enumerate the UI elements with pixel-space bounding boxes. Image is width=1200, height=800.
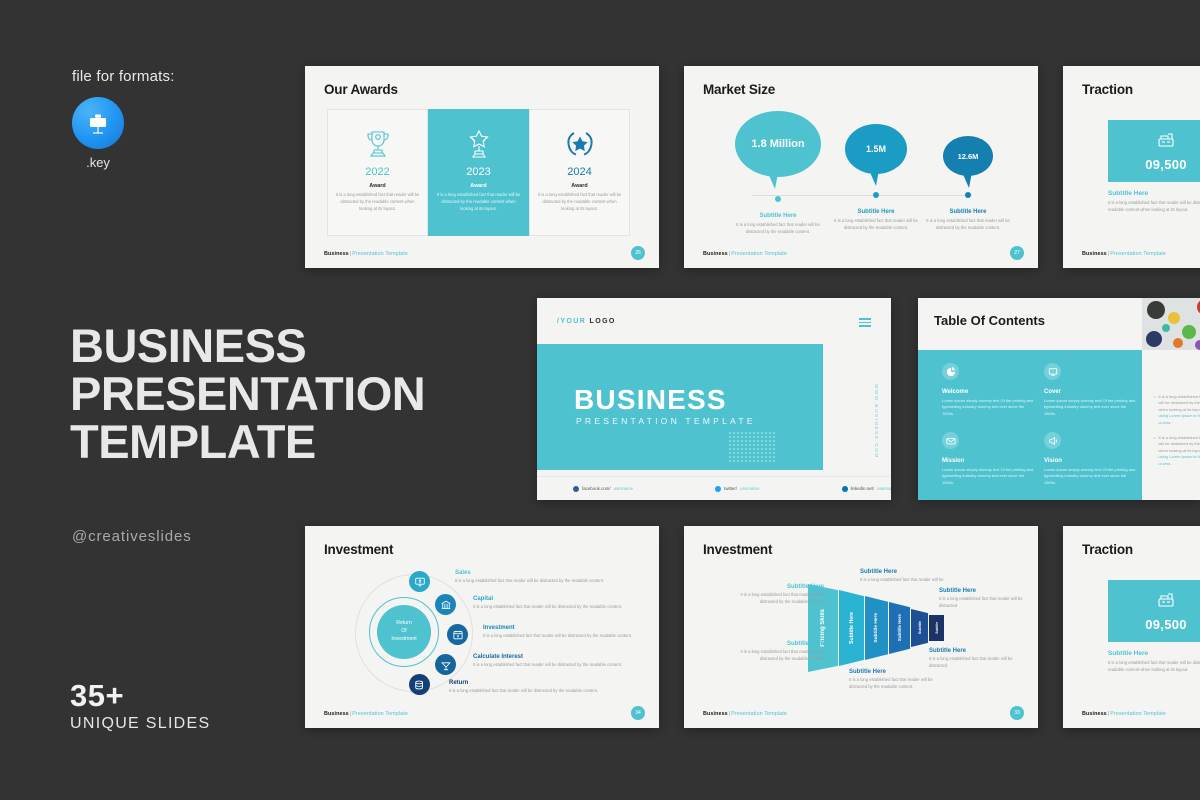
note-title: Subtitle Here — [939, 588, 1031, 594]
toc-item-description: Lorem ipsum simply dummy text Of the pri… — [942, 467, 1034, 486]
market-item-1[interactable]: 1.8 Million Subtitle Here It is a long e… — [732, 111, 824, 236]
cash-register-icon — [1156, 591, 1176, 614]
investment-step-calculate: Calculate Interest It is a long establis… — [473, 654, 628, 669]
poster-canvas: file for formats: .key BUSINESS PRESENTA… — [0, 0, 1200, 800]
market-subtitle: Subtitle Here — [732, 213, 824, 219]
footer-brand: Business — [1082, 711, 1107, 717]
keynote-icon-wrap: .key — [72, 97, 124, 170]
market-bubble: 1.5M — [845, 124, 907, 174]
core-line-2: Of — [391, 628, 416, 636]
note-text: It is a long established fact that reade… — [732, 592, 824, 606]
slide-traction-top[interactable]: Traction 09,500 Subtitle Here It is a lo… — [1063, 66, 1200, 268]
step-label: Calculate Interest — [473, 654, 628, 660]
calendar-money-icon[interactable] — [447, 624, 468, 645]
poster-title: BUSINESS PRESENTATION TEMPLATE — [70, 322, 425, 466]
list-item: • It is a long established fact that rea… — [1154, 435, 1200, 467]
market-description: It is a long established fact that reade… — [734, 222, 822, 236]
slide-market-size[interactable]: Market Size 1.8 Million Subtitle Here It… — [684, 66, 1038, 268]
market-item-2[interactable]: 1.5M Subtitle Here It is a long establis… — [830, 124, 922, 232]
social-prefix: twitter/ — [724, 486, 737, 491]
slide-footer: Business|Presentation Template — [324, 251, 408, 257]
market-value: 1.5M — [866, 144, 886, 154]
social-handle: username — [614, 486, 634, 491]
step-description: It is a long established fact that reade… — [483, 633, 638, 640]
social-handle: username — [740, 486, 760, 491]
traction-subtitle: Subtitle Here — [1108, 650, 1148, 657]
award-year: 2023 — [466, 166, 490, 178]
slide-investment-funnel[interactable]: Investment Pricing Skills Subtitle Here … — [684, 526, 1038, 728]
toc-item-label: Vision — [1044, 458, 1136, 464]
toc-item-vision[interactable]: Vision Lorem ipsum simply dummy text Of … — [1044, 432, 1136, 486]
footer-subtitle: Presentation Template — [731, 711, 787, 717]
market-item-3[interactable]: 12.6M Subtitle Here It is a long establi… — [922, 136, 1014, 232]
note-title: Subtitle Here — [732, 584, 824, 590]
note-text: It is a long established fact that reade… — [939, 596, 1031, 610]
investment-step-investment: Investment It is a long established fact… — [483, 625, 638, 640]
step-description: It is a long established fact that reade… — [449, 688, 604, 695]
slide-investment-circle[interactable]: Investment Return Of Investment Sales — [305, 526, 659, 728]
market-bubble: 12.6M — [943, 136, 993, 176]
award-card-2024[interactable]: 2024 Award It is a long established fact… — [529, 109, 630, 236]
traction-metric-card: 09,500 — [1108, 120, 1200, 182]
award-label: Award — [470, 183, 486, 189]
bullet-marker: • — [1154, 394, 1155, 426]
note-title: Subtitle Here — [860, 569, 952, 575]
page-number-badge: 33 — [1010, 706, 1024, 720]
bullet-text: It is a long established fact that reade… — [1158, 435, 1200, 453]
funnel-segment-label: Subtitle Here — [897, 614, 902, 641]
poster-title-line-1: BUSINESS — [70, 322, 425, 370]
footer-subtitle: Presentation Template — [352, 251, 408, 257]
social-link-twitter[interactable]: twitter/username — [715, 486, 759, 492]
funnel-segment-label: Subtitle — [935, 622, 939, 634]
slide-count-block: 35+ UNIQUE SLIDES — [70, 678, 211, 733]
step-label: Return — [449, 680, 604, 686]
funnel-note-left-bottom: Subtitle Here It is a long established f… — [732, 641, 824, 663]
award-label: Award — [571, 183, 587, 189]
market-value: 12.6M — [958, 152, 979, 161]
footer-subtitle: Presentation Template — [352, 711, 408, 717]
page-title: Table Of Contents — [934, 313, 1045, 328]
envelope-icon — [942, 432, 959, 449]
bank-icon[interactable] — [435, 594, 456, 615]
traction-number: 09,500 — [1145, 157, 1187, 172]
market-description: It is a long established fact that reade… — [832, 218, 920, 232]
toc-item-label: Welcome — [942, 389, 1034, 395]
page-title: Investment — [703, 542, 772, 557]
note-text: It is a long established fact that reade… — [860, 577, 952, 584]
note-text: It is a long established fact that reade… — [929, 656, 1021, 670]
page-number-badge: 34 — [631, 706, 645, 720]
step-label: Sales — [455, 570, 610, 576]
footer-brand: Business — [703, 251, 728, 257]
traction-description: It is a long established fact that reade… — [1108, 200, 1200, 214]
slide-footer: Business|Presentation Template — [703, 251, 787, 257]
slide-footer: Business|Presentation Template — [1082, 251, 1166, 257]
social-handle: username — [877, 486, 891, 491]
note-title: Subtitle Here — [732, 641, 824, 647]
toc-item-mission[interactable]: Mission Lorem ipsum simply dummy text Of… — [942, 432, 1034, 486]
market-subtitle: Subtitle Here — [922, 209, 1014, 215]
toc-item-label: Mission — [942, 458, 1034, 464]
cover-subhead: PRESENTATION TEMPLATE — [576, 416, 756, 426]
bullet-text: It is a long established fact that reade… — [1158, 394, 1200, 412]
timeline-dot — [873, 192, 879, 198]
author-handle: @creativeslides — [72, 528, 192, 545]
file-format-label: file for formats: — [72, 68, 175, 85]
footer-brand: Business — [1082, 251, 1107, 257]
facebook-icon — [573, 486, 579, 492]
slide-cover[interactable]: /YOUR LOGO BUSINESS PRESENTATION TEMPLAT… — [537, 298, 891, 500]
linkedin-icon — [842, 486, 848, 492]
market-value: 1.8 Million — [751, 138, 804, 150]
funnel-segment-label: Subtitle Here — [849, 612, 855, 644]
awards-card-row: 2022 Award It is a long established fact… — [327, 109, 630, 236]
funnel-note-bottom: Subtitle Here It is a long established f… — [849, 669, 941, 691]
page-title: Traction — [1082, 542, 1133, 557]
traction-number: 09,500 — [1145, 617, 1187, 632]
social-prefix: facebook.com/ — [582, 486, 611, 491]
slide-our-awards[interactable]: Our Awards 2022 Award It is a long estab… — [305, 66, 659, 268]
laurel-star-icon — [563, 126, 597, 162]
poster-title-line-2: PRESENTATION — [70, 370, 425, 418]
award-year: 2022 — [365, 166, 389, 178]
list-item: • It is a long established fact that rea… — [1154, 394, 1200, 426]
slide-footer: Business|Presentation Template — [703, 711, 787, 717]
footer-brand: Business — [324, 251, 349, 257]
megaphone-icon — [1044, 432, 1061, 449]
note-title: Subtitle Here — [929, 648, 1021, 654]
coins-chart-icon[interactable] — [409, 674, 430, 695]
funnel-segment-label: Subtitle Here — [874, 613, 879, 643]
investment-step-sales: Sales It is a long established fact that… — [455, 570, 610, 585]
footer-brand: Business — [324, 711, 349, 717]
chart-pin-icon[interactable] — [435, 654, 456, 675]
slide-footer: Business|Presentation Template — [1082, 711, 1166, 717]
cover-social-bar: facebook.com/username twitter/username l… — [537, 476, 891, 500]
hamburger-menu-icon[interactable] — [859, 318, 871, 329]
slide-count-label: UNIQUE SLIDES — [70, 715, 211, 733]
toc-item-cover[interactable]: Cover Lorem ipsum simply dummy text Of t… — [1044, 363, 1136, 417]
presentation-icon — [1044, 363, 1061, 380]
poster-title-line-3: TEMPLATE — [70, 418, 425, 466]
market-description: It is a long established fact that reade… — [924, 218, 1012, 232]
footer-brand: Business — [703, 711, 728, 717]
award-description: It is a long established fact that reade… — [336, 192, 420, 212]
logo-word: LOGO — [590, 318, 616, 325]
toc-item-description: Lorem ipsum simply dummy text Of the pri… — [942, 398, 1034, 417]
toc-bullet-list: • It is a long established fact that rea… — [1154, 394, 1200, 476]
traction-description: It is a long established fact that reade… — [1108, 660, 1200, 674]
bullet-marker: • — [1154, 435, 1155, 467]
core-line-1: Return — [391, 620, 416, 628]
center-label: Return Of Investment — [377, 605, 431, 659]
award-description: It is a long established fact that reade… — [437, 192, 521, 212]
footer-subtitle: Presentation Template — [1110, 711, 1166, 717]
header-photo — [1142, 298, 1200, 350]
page-number-badge: 26 — [631, 246, 645, 260]
note-text: It is a long established fact that reade… — [732, 649, 824, 663]
toc-item-description: Lorem ipsum simply dummy text Of the pri… — [1044, 467, 1136, 486]
page-title: Market Size — [703, 82, 775, 97]
slide-traction-bottom[interactable]: Traction 09,500 Subtitle Here It is a lo… — [1063, 526, 1200, 728]
note-title: Subtitle Here — [849, 669, 941, 675]
timeline-dot — [965, 192, 971, 198]
twitter-icon — [715, 486, 721, 492]
footer-subtitle: Presentation Template — [731, 251, 787, 257]
monitor-money-icon[interactable] — [409, 571, 430, 592]
social-prefix: linkedin.net/ — [851, 486, 874, 491]
page-title: Investment — [324, 542, 393, 557]
award-card-2022[interactable]: 2022 Award It is a long established fact… — [327, 109, 428, 236]
funnel-note-right-bottom: Subtitle Here It is a long established f… — [929, 648, 1021, 670]
timeline-dot — [775, 196, 781, 202]
file-format-block: file for formats: .key — [72, 68, 175, 170]
cover-website-url: WWW.BUSINESS.COM — [874, 384, 879, 459]
page-title: Traction — [1082, 82, 1133, 97]
social-link-linkedin[interactable]: linkedin.net/username — [842, 486, 891, 492]
core-line-3: Investment — [391, 636, 416, 644]
award-description: It is a long established fact that reade… — [538, 192, 622, 212]
funnel-segment-label: Subtitle — [918, 621, 922, 634]
funnel-segment-5[interactable]: Subtitle — [911, 609, 928, 647]
investment-step-return: Return It is a long established fact tha… — [449, 680, 604, 695]
footer-subtitle: Presentation Template — [1110, 251, 1166, 257]
market-subtitle: Subtitle Here — [830, 209, 922, 215]
social-link-facebook[interactable]: facebook.com/username — [573, 486, 633, 492]
award-card-2023[interactable]: 2023 Award It is a long established fact… — [428, 109, 529, 236]
page-number-badge: 27 — [1010, 246, 1024, 260]
toc-item-description: Lorem ipsum simply dummy text Of the pri… — [1044, 398, 1136, 417]
decorative-dot-grid — [729, 432, 777, 462]
traction-metric-card: 09,500 — [1108, 580, 1200, 642]
pie-chart-icon — [942, 363, 959, 380]
step-label: Investment — [483, 625, 638, 631]
funnel-segment-4[interactable]: Subtitle Here — [889, 602, 910, 654]
cash-register-icon — [1156, 131, 1176, 154]
award-year: 2024 — [567, 166, 591, 178]
step-description: It is a long established fact that reade… — [473, 662, 628, 669]
toc-item-label: Cover — [1044, 389, 1136, 395]
award-label: Award — [369, 183, 385, 189]
investment-step-capital: Capital It is a long established fact th… — [473, 596, 628, 611]
step-label: Capital — [473, 596, 628, 602]
market-bubble: 1.8 Million — [735, 111, 821, 177]
slide-footer: Business|Presentation Template — [324, 711, 408, 717]
toc-item-welcome[interactable]: Welcome Lorem ipsum simply dummy text Of… — [942, 363, 1034, 417]
star-trophy-icon — [463, 126, 495, 162]
slide-table-of-contents[interactable]: Table Of Contents Welcome Lorem ipsum si… — [918, 298, 1200, 500]
slide-count-number: 35+ — [70, 678, 211, 714]
keynote-icon — [72, 97, 124, 149]
funnel-segment-3[interactable]: Subtitle Here — [865, 596, 888, 660]
file-extension-label: .key — [72, 155, 124, 170]
trophy-icon — [363, 126, 393, 162]
logo[interactable]: /YOUR LOGO — [557, 318, 616, 325]
step-description: It is a long established fact that reade… — [473, 604, 628, 611]
cover-headline: BUSINESS — [574, 384, 727, 416]
traction-subtitle: Subtitle Here — [1108, 190, 1148, 197]
logo-your: YOUR — [560, 318, 586, 325]
funnel-segment-6[interactable]: Subtitle — [929, 615, 944, 641]
page-title: Our Awards — [324, 82, 398, 97]
step-description: It is a long established fact that reade… — [455, 578, 610, 585]
funnel-note-top: Subtitle Here It is a long established f… — [860, 569, 952, 584]
funnel-note-left-top: Subtitle Here It is a long established f… — [732, 584, 824, 606]
funnel-note-right-top: Subtitle Here It is a long established f… — [939, 588, 1031, 610]
funnel-segment-2[interactable]: Subtitle Here — [839, 590, 864, 666]
note-text: It is a long established fact that reade… — [849, 677, 941, 691]
